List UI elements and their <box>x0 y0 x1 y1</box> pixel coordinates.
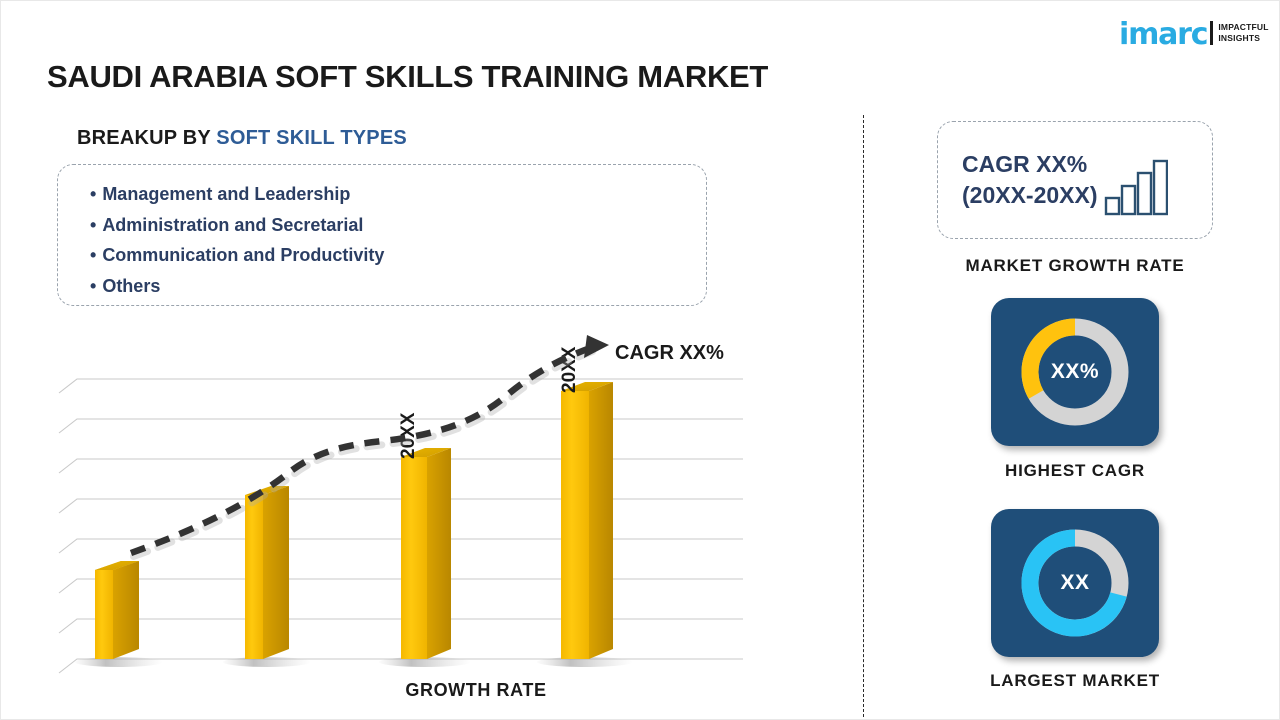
page-subtitle: BREAKUP BY SOFT SKILL TYPES <box>77 127 407 150</box>
highest-cagr-caption: HIGHEST CAGR <box>937 461 1213 481</box>
chart-svg: 20XX 20XX <box>53 331 793 681</box>
list-item-label: Management and Leadership <box>102 184 350 204</box>
bullet-dot-icon: • <box>90 215 96 235</box>
chart-trend-line <box>131 335 609 557</box>
largest-market-value: XX <box>991 509 1159 657</box>
subtitle-prefix: BREAKUP BY <box>77 127 216 149</box>
chart-bar <box>95 560 139 659</box>
cagr-text: CAGR XX% (20XX-20XX) <box>962 149 1098 211</box>
infographic-page: imarc IMPACTFUL INSIGHTS SAUDI ARABIA SO… <box>0 0 1280 720</box>
growth-rate-chart: 20XX 20XX CAGR XX% GROWTH RATE <box>53 331 793 720</box>
imarc-logo: imarc IMPACTFUL INSIGHTS <box>1119 14 1271 52</box>
list-item-label: Administration and Secretarial <box>102 215 363 235</box>
cagr-line-2: (20XX-20XX) <box>962 180 1098 211</box>
chart-bar: 20XX <box>559 346 613 659</box>
list-item-label: Others <box>102 276 160 296</box>
logo-wordmark: imarc <box>1119 20 1207 50</box>
logo-divider <box>1210 21 1213 45</box>
list-item: •Administration and Secretarial <box>90 210 706 241</box>
chart-bar <box>245 486 289 659</box>
chart-bar: 20XX <box>398 412 451 659</box>
chart-cagr-annotation: CAGR XX% <box>615 342 724 365</box>
highest-cagr-card: XX% <box>991 298 1159 446</box>
highest-cagr-value: XX% <box>991 298 1159 446</box>
bullet-dot-icon: • <box>90 184 96 204</box>
list-item: •Management and Leadership <box>90 179 706 210</box>
largest-market-card: XX <box>991 509 1159 657</box>
market-growth-rate-caption: MARKET GROWTH RATE <box>937 256 1213 276</box>
page-title: SAUDI ARABIA SOFT SKILLS TRAINING MARKET <box>47 59 768 95</box>
logo-tagline-line1: IMPACTFUL <box>1218 22 1268 32</box>
logo-tagline-line2: INSIGHTS <box>1218 33 1260 43</box>
largest-market-caption: LARGEST MARKET <box>937 671 1213 691</box>
logo-tagline: IMPACTFUL INSIGHTS <box>1218 22 1268 44</box>
subtitle-highlight: SOFT SKILL TYPES <box>216 127 407 149</box>
soft-skill-types-box: •Management and Leadership •Administrati… <box>57 164 707 306</box>
market-growth-rate-box: CAGR XX% (20XX-20XX) <box>937 121 1213 239</box>
bullet-dot-icon: • <box>90 245 96 265</box>
bullet-dot-icon: • <box>90 276 96 296</box>
chart-x-axis-label: GROWTH RATE <box>346 680 606 701</box>
vertical-divider <box>863 115 864 717</box>
trend-arrow-icon <box>584 335 609 358</box>
list-item: •Others <box>90 271 706 302</box>
bar-chart-icon <box>1104 158 1168 216</box>
list-item: •Communication and Productivity <box>90 240 706 271</box>
cagr-line-1: CAGR XX% <box>962 149 1098 180</box>
list-item-label: Communication and Productivity <box>102 245 384 265</box>
